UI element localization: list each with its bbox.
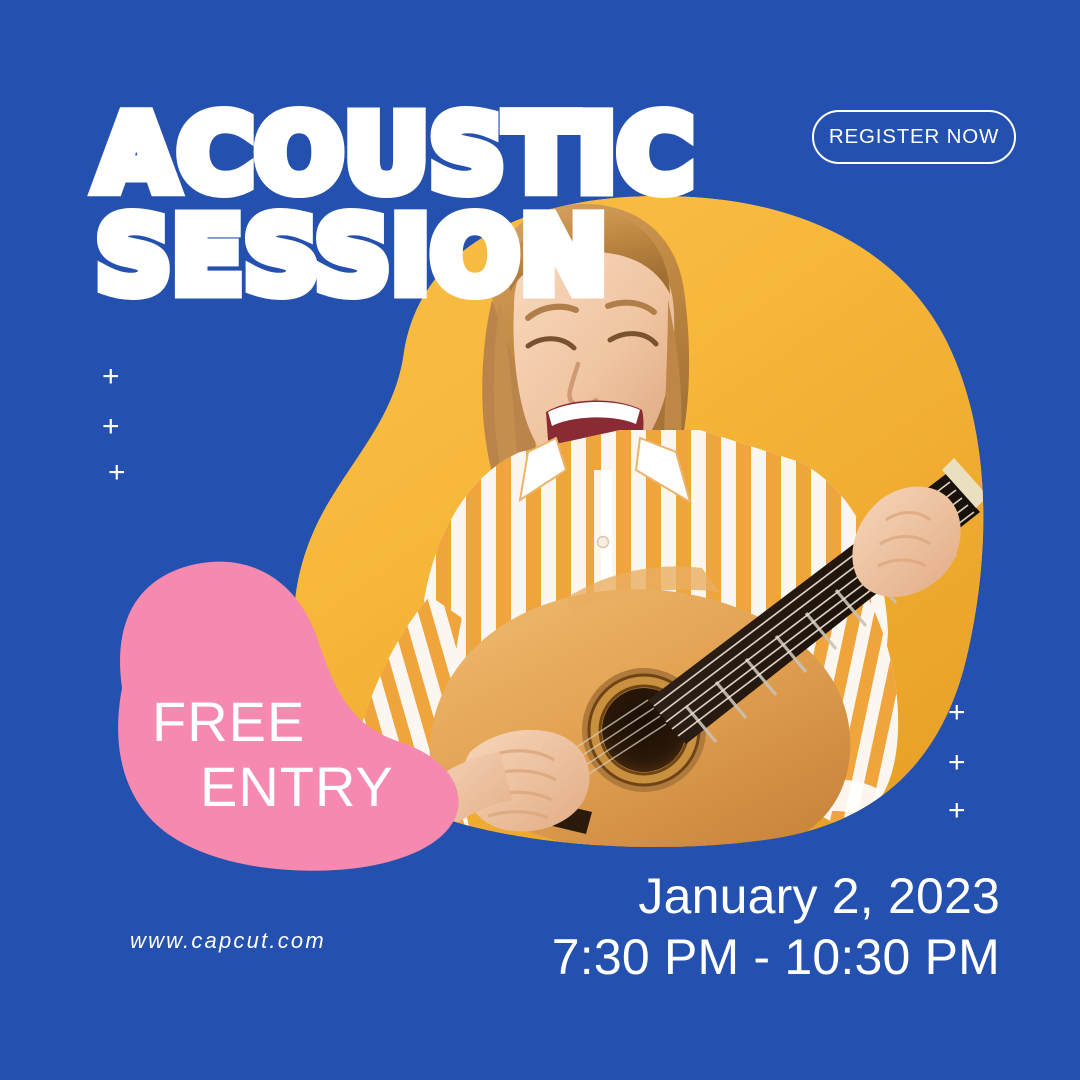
plus-icon: +	[948, 796, 966, 826]
event-time: 7:30 PM - 10:30 PM	[552, 927, 1000, 988]
register-now-button[interactable]: REGISTER NOW	[812, 110, 1016, 164]
event-date: January 2, 2023	[552, 866, 1000, 927]
free-entry-line-1: FREE	[152, 690, 394, 755]
title-line-2: SESSION	[96, 206, 695, 308]
plus-icon: +	[948, 698, 966, 728]
website-url[interactable]: www.capcut.com	[130, 928, 326, 954]
poster-canvas: ACOUSTIC SESSION REGISTER NOW FREE ENTRY…	[0, 0, 1080, 1080]
plus-icon: +	[102, 362, 120, 392]
free-entry-line-2: ENTRY	[200, 755, 394, 820]
plus-icon: +	[102, 412, 120, 442]
title-line-1: ACOUSTIC	[96, 104, 695, 206]
plus-icon: +	[108, 458, 126, 488]
plus-icon: +	[948, 748, 966, 778]
event-datetime: January 2, 2023 7:30 PM - 10:30 PM	[552, 866, 1000, 988]
free-entry-badge: FREE ENTRY	[152, 690, 394, 820]
register-now-label: REGISTER NOW	[829, 125, 999, 149]
page-title: ACOUSTIC SESSION	[96, 104, 695, 308]
